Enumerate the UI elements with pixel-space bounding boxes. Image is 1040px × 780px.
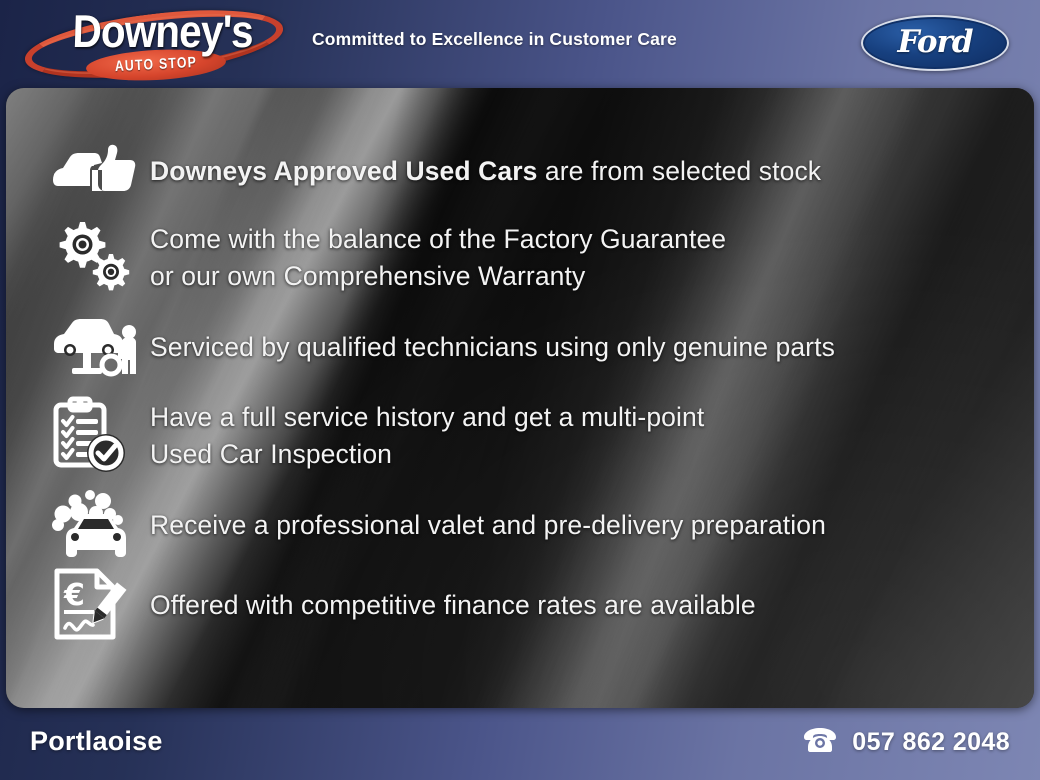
feature-text: Downeys Approved Used Cars are from sele… [150, 153, 821, 190]
feature-row: Serviced by qualified technicians using … [6, 310, 1034, 384]
feature-line: Offered with competitive finance rates a… [150, 587, 756, 624]
euro-contract-pen-icon: € [50, 568, 150, 642]
page-footer: Portlaoise 057 862 2048 [0, 708, 1040, 780]
feature-row: Receive a professional valet and pre-del… [6, 488, 1034, 562]
dealer-logo[interactable]: Downey's AUTO STOP [24, 2, 284, 86]
feature-row: Have a full service history and get a mu… [6, 390, 1034, 482]
gears-icon [50, 212, 150, 304]
feature-line: Serviced by qualified technicians using … [150, 329, 835, 366]
feature-line: Receive a professional valet and pre-del… [150, 507, 826, 544]
logo-brand-sub: AUTO STOP [98, 50, 214, 80]
feature-row: € Offered with competitive finance rates… [6, 568, 1034, 642]
clipboard-checklist-icon [50, 390, 150, 482]
feature-text: Offered with competitive finance rates a… [150, 587, 756, 624]
page-header: Downey's AUTO STOP Committed to Excellen… [0, 0, 1040, 88]
phone-number: 057 862 2048 [852, 728, 1010, 757]
ford-oval-icon[interactable]: Ford [861, 15, 1009, 71]
car-thumbs-up-icon [50, 136, 150, 206]
car-wash-bubbles-icon [50, 488, 150, 562]
ford-logo-text: Ford [898, 27, 973, 58]
dealer-location: Portlaoise [30, 726, 163, 757]
feature-line: or our own Comprehensive Warranty [150, 258, 726, 295]
feature-line: Have a full service history and get a mu… [150, 399, 704, 436]
phone-block[interactable]: 057 862 2048 [802, 726, 1010, 758]
telephone-icon [802, 726, 838, 758]
feature-row: Downeys Approved Used Cars are from sele… [6, 136, 1034, 206]
car-lift-technician-icon [50, 310, 150, 384]
header-tagline: Committed to Excellence in Customer Care [312, 29, 677, 50]
feature-line: Come with the balance of the Factory Gua… [150, 221, 726, 258]
feature-text: Receive a professional valet and pre-del… [150, 507, 826, 544]
main-panel: Downeys Approved Used Cars are from sele… [6, 88, 1034, 708]
feature-text: Serviced by qualified technicians using … [150, 329, 835, 366]
logo-brand-name: Downey's [72, 6, 258, 56]
feature-line: Used Car Inspection [150, 436, 704, 473]
feature-line-strong: Downeys Approved Used Cars [150, 156, 537, 186]
feature-line-rest: are from selected stock [537, 156, 821, 186]
feature-text: Come with the balance of the Factory Gua… [150, 221, 726, 295]
feature-row: Come with the balance of the Factory Gua… [6, 212, 1034, 304]
svg-text:€: € [63, 578, 85, 613]
feature-text: Have a full service history and get a mu… [150, 399, 704, 473]
feature-list: Downeys Approved Used Cars are from sele… [6, 88, 1034, 708]
